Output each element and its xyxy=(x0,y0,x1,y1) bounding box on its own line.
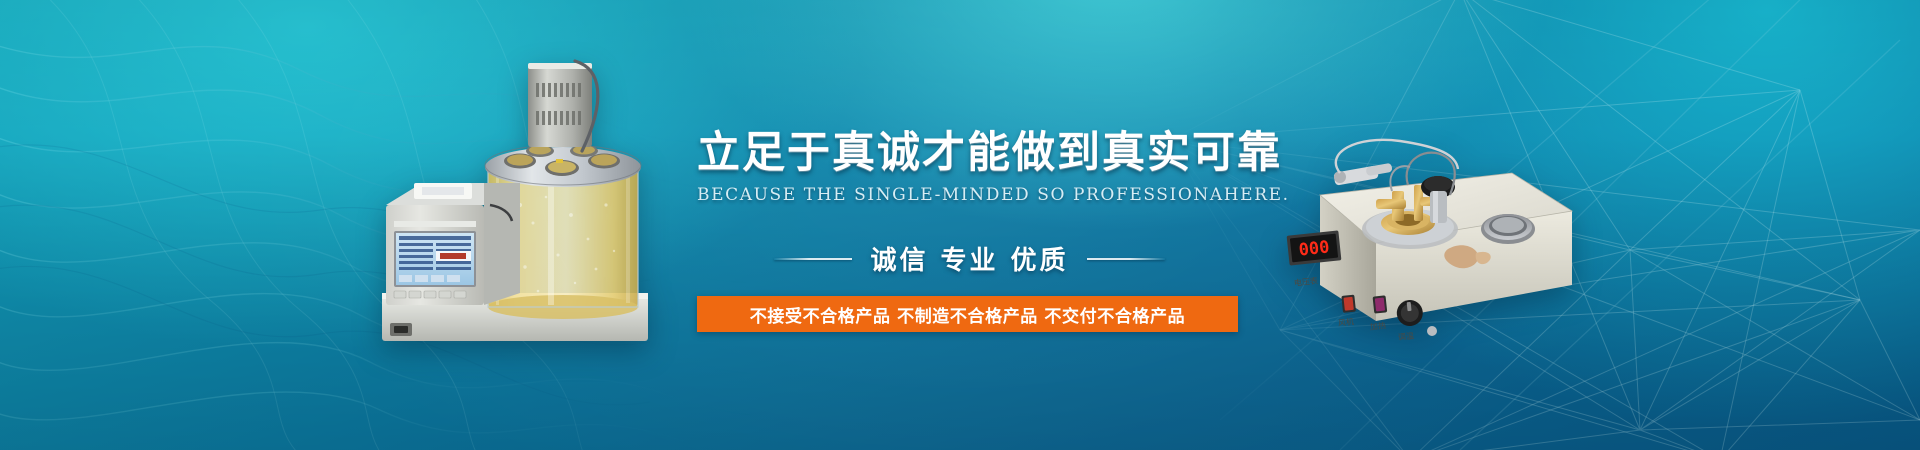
tagline-keywords: 诚信 专业 优质 xyxy=(870,240,1068,277)
slogan-bar-text: 不接受不合格产品 不制造不合格产品 不交付不合格产品 xyxy=(750,302,1185,327)
divider-rule-left xyxy=(774,258,852,260)
tagline-row: 诚信 专业 优质 xyxy=(697,240,1242,277)
divider-rule-right xyxy=(1087,258,1165,260)
promo-banner: 000 电压表 风机 加热 调温 xyxy=(0,0,1920,450)
subheadline-english: BECAUSE THE SINGLE-MINDED SO PROFESSIONA… xyxy=(697,185,1242,205)
headline-chinese: 立足于真诚才能做到真实可靠 xyxy=(697,118,1242,180)
copy-block: 立足于真诚才能做到真实可靠 BECAUSE THE SINGLE-MINDED … xyxy=(0,0,1920,450)
slogan-bar: 不接受不合格产品 不制造不合格产品 不交付不合格产品 xyxy=(697,296,1238,332)
